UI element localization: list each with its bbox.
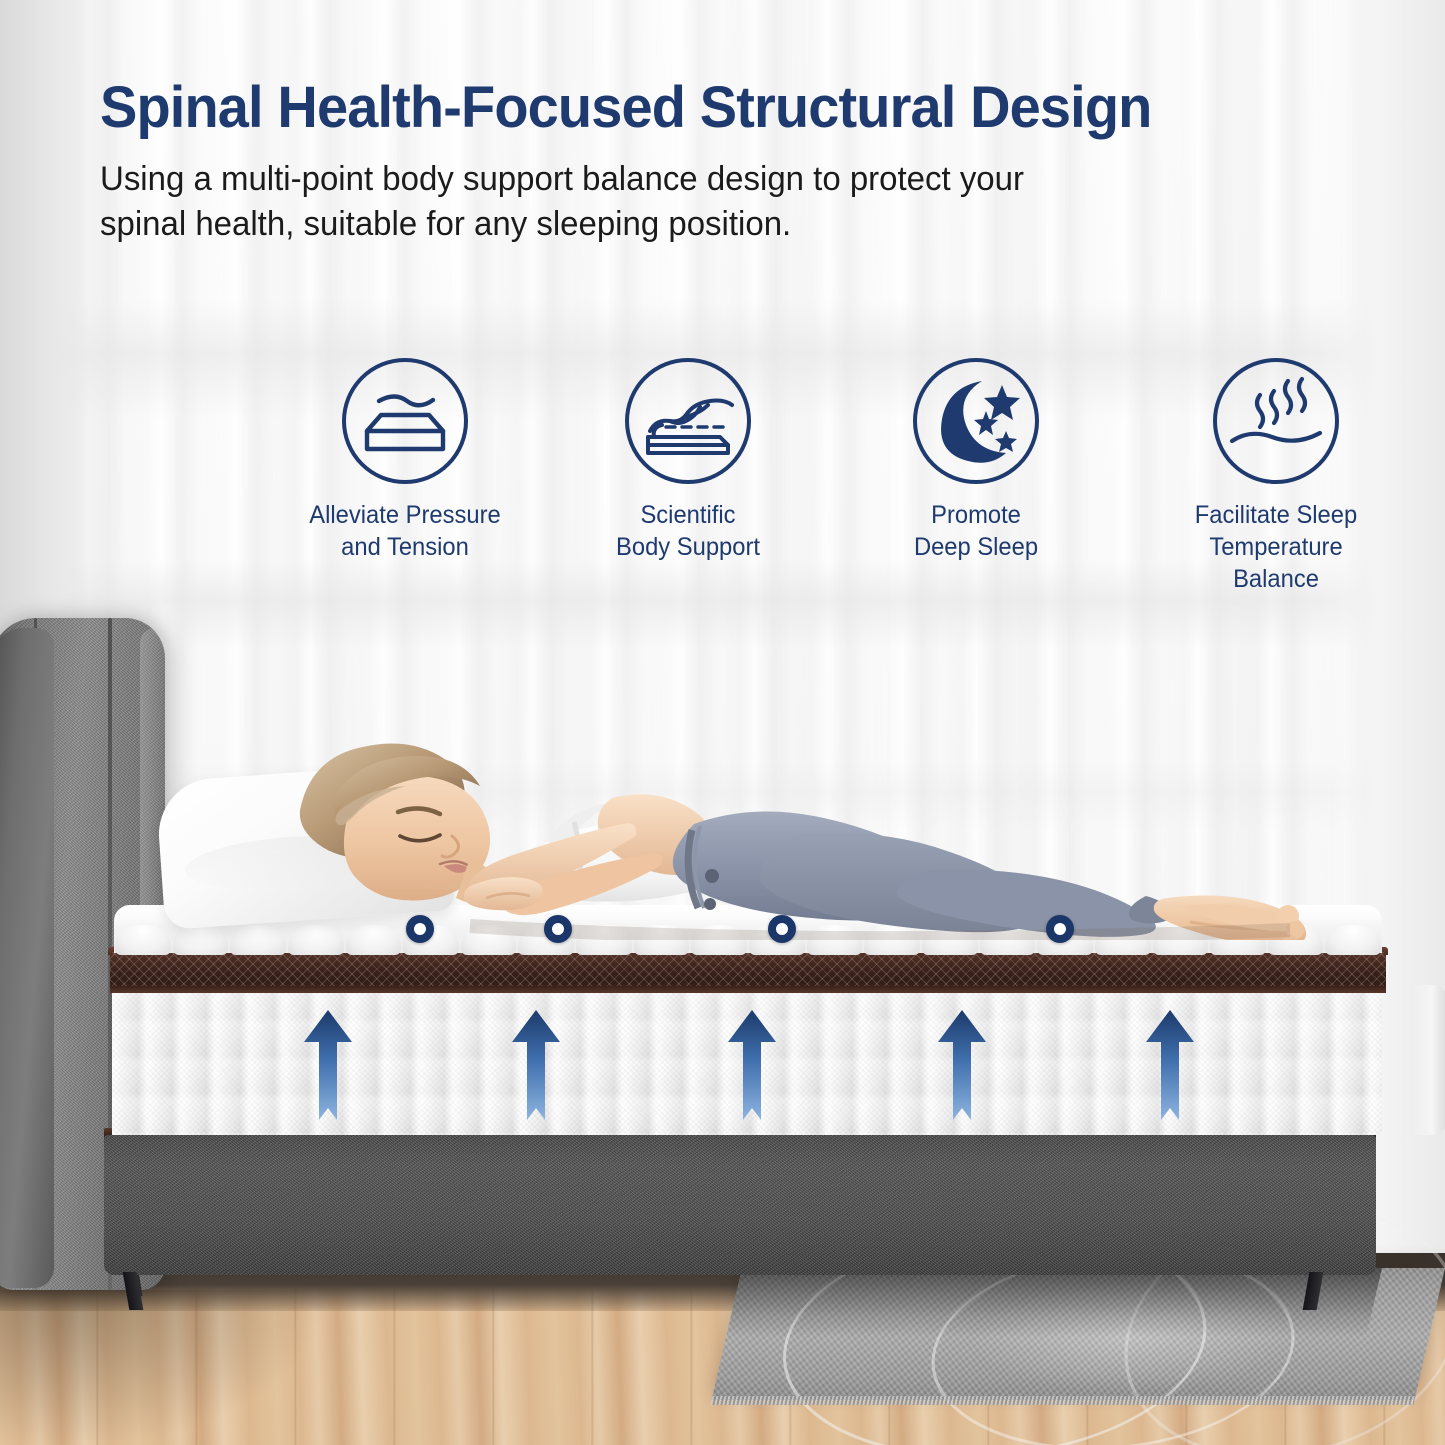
- feature-label-line-2: Temperature Balance: [1164, 532, 1388, 596]
- support-arrow: [934, 1008, 990, 1128]
- rug-bed-shadow: [726, 1268, 1382, 1338]
- mattress-right-edge: [1413, 985, 1445, 1135]
- feature-label-line-2: Deep Sleep: [864, 532, 1088, 564]
- support-arrow-shape: [1146, 1010, 1194, 1120]
- support-arrow: [508, 1008, 564, 1128]
- feature-promote-deep-sleep: Promote Deep Sleep: [858, 358, 1094, 564]
- support-arrow: [300, 1008, 356, 1128]
- support-arrow: [724, 1008, 780, 1128]
- feature-temperature-balance: Facilitate Sleep Temperature Balance: [1158, 358, 1394, 595]
- mesh-lattice-pattern: [110, 952, 1386, 990]
- mesh-band-bottom-edge: [110, 986, 1386, 993]
- feature-label-line-1: Alleviate Pressure: [293, 500, 517, 532]
- pressure-point-marker: [1046, 915, 1074, 943]
- subtitle-line-1: Using a multi-point body support balance…: [100, 157, 1322, 202]
- page-subtitle: Using a multi-point body support balance…: [100, 157, 1322, 246]
- support-arrow-shape: [512, 1010, 560, 1120]
- support-arrow: [1142, 1008, 1198, 1128]
- sleeping-woman-illustration: [0, 690, 1445, 940]
- pressure-point-marker: [768, 915, 796, 943]
- feature-label-line-2: Body Support: [576, 532, 800, 564]
- feature-label-line-1: Scientific: [576, 500, 800, 532]
- support-arrow-shape: [304, 1010, 352, 1120]
- support-arrow-shape: [728, 1010, 776, 1120]
- feature-label: Promote Deep Sleep: [864, 500, 1088, 564]
- floor-shadow-left: [0, 1290, 330, 1445]
- rug-fringe: [710, 1396, 1415, 1405]
- bed-base: [104, 1135, 1376, 1275]
- feature-label-line-1: Facilitate Sleep: [1164, 500, 1388, 532]
- mattress-pressure-relief-icon: [342, 358, 468, 484]
- body-support-alignment-icon: [625, 358, 751, 484]
- moon-stars-icon: [913, 358, 1039, 484]
- heat-airflow-waves-icon: [1213, 358, 1339, 484]
- page-title: Spinal Health-Focused Structural Design: [100, 78, 1316, 137]
- pressure-point-marker: [406, 915, 434, 943]
- feature-label-line-1: Promote: [864, 500, 1088, 532]
- base-fabric-texture: [104, 1135, 1376, 1275]
- feature-scientific-body-support: Scientific Body Support: [570, 358, 806, 564]
- pressure-point-marker: [544, 915, 572, 943]
- support-arrow-shape: [938, 1010, 986, 1120]
- feature-alleviate-pressure: Alleviate Pressure and Tension: [287, 358, 523, 564]
- feature-label-line-2: and Tension: [293, 532, 517, 564]
- header-block: Spinal Health-Focused Structural Design …: [100, 78, 1360, 246]
- feature-label: Alleviate Pressure and Tension: [293, 500, 517, 564]
- feature-label: Facilitate Sleep Temperature Balance: [1164, 500, 1388, 595]
- feature-label: Scientific Body Support: [576, 500, 800, 564]
- mattress-mesh-border: [110, 952, 1386, 990]
- subtitle-line-2: spinal health, suitable for any sleeping…: [100, 202, 1322, 247]
